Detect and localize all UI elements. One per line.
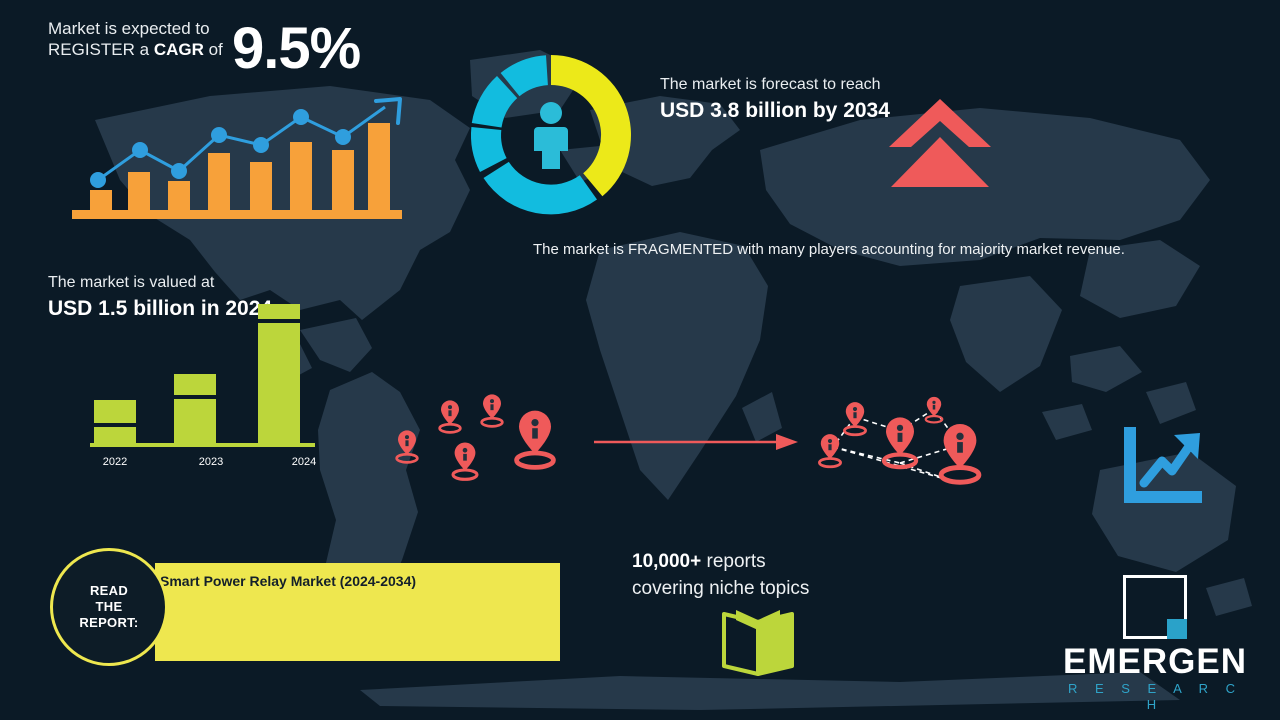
donut-slice-cyan-2 bbox=[471, 127, 507, 172]
market-share-donut-chart bbox=[466, 50, 636, 220]
badge-line-2: THE bbox=[96, 599, 123, 614]
orange-trend-bars-chart bbox=[60, 85, 420, 225]
bar-label-2023: 2023 bbox=[189, 456, 233, 468]
reports-subtitle: covering niche topics bbox=[632, 578, 809, 599]
logo-subtitle: R E S E A R C H bbox=[1060, 681, 1250, 713]
scattered-map-pins bbox=[380, 385, 580, 495]
donut-slice-cyan-1 bbox=[484, 162, 598, 214]
bar-series bbox=[72, 123, 402, 219]
cagr-line-2-post: of bbox=[204, 40, 223, 59]
connected-map-pins bbox=[800, 385, 1010, 500]
badge-line-3: REPORT: bbox=[79, 615, 138, 630]
bar-label-2022: 2022 bbox=[93, 456, 137, 468]
report-title: Smart Power Relay Market (2024-2034) bbox=[160, 572, 555, 590]
cagr-value: 9.5% bbox=[232, 20, 360, 78]
logo-name: EMERGEN bbox=[1060, 643, 1250, 681]
infographic-canvas: Market is expected to REGISTER a CAGR of… bbox=[0, 0, 1280, 720]
reports-count-text: 10,000+ reports covering niche topics bbox=[632, 548, 892, 602]
donut-slice-yellow bbox=[551, 55, 631, 196]
bar-label-2024: 2024 bbox=[282, 456, 326, 468]
forecast-text-block: The market is forecast to reach USD 3.8 … bbox=[660, 74, 900, 124]
bar-2023 bbox=[174, 374, 216, 445]
line-chart-arrow-icon bbox=[1118, 425, 1210, 505]
fragmented-market-text: The market is FRAGMENTED with many playe… bbox=[533, 238, 1223, 261]
reports-count-suffix: reports bbox=[701, 551, 765, 572]
read-the-report-badge[interactable]: READ THE REPORT: bbox=[50, 548, 168, 666]
green-growth-bars-chart bbox=[80, 290, 330, 450]
reports-count-number: 10,000+ bbox=[632, 551, 701, 572]
logo-mark-icon bbox=[1123, 575, 1187, 639]
forecast-small-text: The market is forecast to reach bbox=[660, 74, 900, 95]
forecast-value-text: USD 3.8 billion by 2034 bbox=[660, 97, 900, 124]
read-the-report-label: READ THE REPORT: bbox=[79, 583, 138, 631]
person-icon bbox=[534, 102, 568, 169]
double-chevron-up-icon bbox=[885, 95, 995, 190]
bar-2024 bbox=[258, 304, 300, 445]
badge-line-1: READ bbox=[90, 583, 128, 598]
cagr-keyword: CAGR bbox=[154, 40, 204, 59]
emergen-research-logo: EMERGEN R E S E A R C H bbox=[1060, 575, 1250, 713]
bar-2022 bbox=[94, 400, 136, 445]
red-right-arrow-icon bbox=[592, 430, 802, 454]
open-book-icon bbox=[716, 608, 800, 678]
chart-baseline bbox=[90, 443, 315, 447]
cagr-line-2-pre: REGISTER a bbox=[48, 40, 154, 59]
